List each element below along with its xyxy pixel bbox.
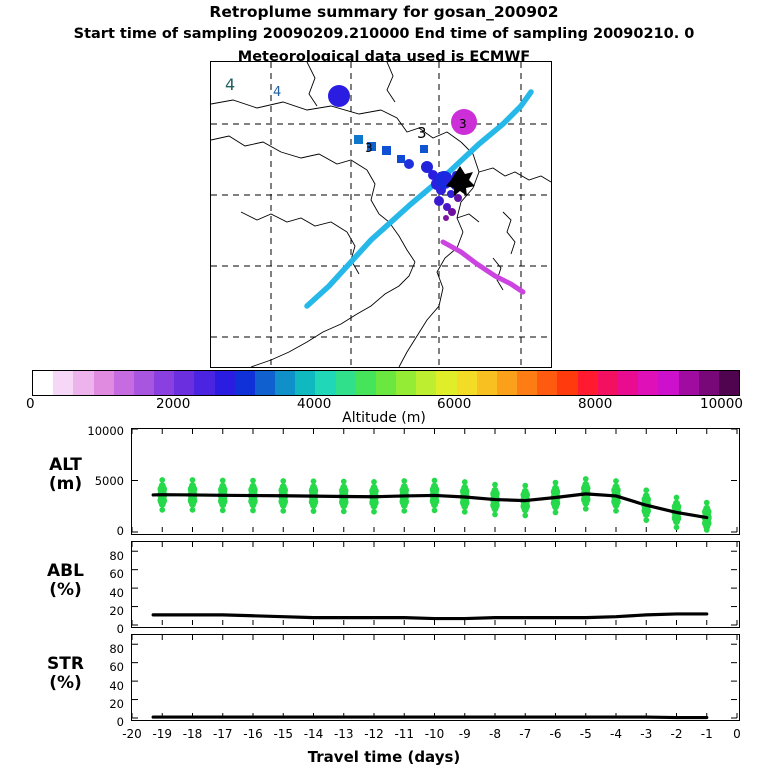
colorbar-segment xyxy=(557,371,577,395)
retroplume-summary-figure: Retroplume summary for gosan_200902 Star… xyxy=(0,0,768,768)
abl-plot xyxy=(131,541,740,628)
alt-ytick-10000: 10000 xyxy=(78,424,124,438)
colorbar-segment xyxy=(497,371,517,395)
alt-ytick-0: 0 xyxy=(78,524,124,538)
colorbar-segment xyxy=(699,371,719,395)
colorbar-segment xyxy=(436,371,456,395)
abl-ytick-80: 80 xyxy=(78,549,124,563)
colorbar-segment xyxy=(719,371,739,395)
colorbar-segment xyxy=(174,371,194,395)
alt-plot xyxy=(131,428,740,535)
colorbar-segment xyxy=(315,371,335,395)
colorbar-segment xyxy=(275,371,295,395)
str-ytick-80: 80 xyxy=(78,642,124,656)
colorbar-segment xyxy=(255,371,275,395)
svg-text:3: 3 xyxy=(365,141,373,155)
svg-text:4: 4 xyxy=(225,75,235,94)
colorbar-segment xyxy=(376,371,396,395)
colorbar-segment xyxy=(94,371,114,395)
colorbar-segment xyxy=(295,371,315,395)
str-ytick-40: 40 xyxy=(78,679,124,693)
colorbar-segment xyxy=(578,371,598,395)
colorbar-segment xyxy=(53,371,73,395)
colorbar-segment xyxy=(154,371,174,395)
colorbar-segment xyxy=(396,371,416,395)
svg-text:3: 3 xyxy=(417,124,427,142)
colorbar-segment xyxy=(638,371,658,395)
colorbar-segment xyxy=(618,371,638,395)
colorbar-segment xyxy=(537,371,557,395)
sampling-time-line: Start time of sampling 20090209.210000 E… xyxy=(0,26,768,42)
altitude-colorbar xyxy=(32,370,740,396)
colorbar-segment xyxy=(194,371,214,395)
colorbar-segment xyxy=(235,371,255,395)
colorbar-segment xyxy=(356,371,376,395)
colorbar-segment xyxy=(134,371,154,395)
colorbar-segment xyxy=(33,371,53,395)
colorbar-segment xyxy=(114,371,134,395)
str-plot xyxy=(131,634,740,721)
colorbar-segment xyxy=(336,371,356,395)
colorbar-segment xyxy=(416,371,436,395)
str-ytick-20: 20 xyxy=(78,697,124,711)
x-axis-label: Travel time (days) xyxy=(0,748,768,766)
svg-text:3: 3 xyxy=(459,117,467,131)
svg-text:4: 4 xyxy=(451,177,459,191)
colorbar-segment xyxy=(658,371,678,395)
abl-ytick-60: 60 xyxy=(78,567,124,581)
colorbar-segment xyxy=(517,371,537,395)
abl-ytick-20: 20 xyxy=(78,604,124,618)
x-tick-label: 0 xyxy=(717,727,757,741)
colorbar-segment xyxy=(215,371,235,395)
colorbar-segment xyxy=(73,371,93,395)
colorbar-segment xyxy=(598,371,618,395)
alt-ytick-5000: 5000 xyxy=(78,474,124,488)
abl-ytick-40: 40 xyxy=(78,586,124,600)
colorbar-segment xyxy=(477,371,497,395)
page-title: Retroplume summary for gosan_200902 xyxy=(0,3,768,21)
str-ytick-60: 60 xyxy=(78,660,124,674)
colorbar-segment xyxy=(679,371,699,395)
abl-ytick-0: 0 xyxy=(78,622,124,636)
colorbar-segment xyxy=(457,371,477,395)
alt-axis-label-line1: ALT xyxy=(8,456,123,475)
retroplume-map: 4 4 3 3 3 4 xyxy=(210,61,552,368)
svg-text:4: 4 xyxy=(273,85,281,100)
